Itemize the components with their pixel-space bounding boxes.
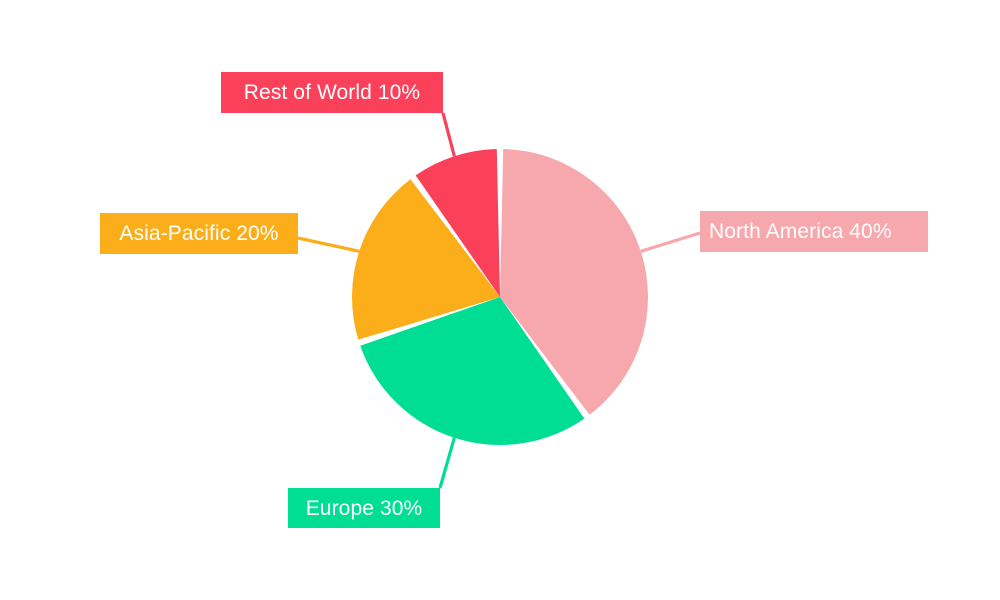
pie-slices [352,149,648,445]
leader-line-north-america [641,233,700,251]
leader-line-asia-pacific [298,238,359,251]
leader-line-europe [440,438,454,488]
pie-chart-figure: North America 40% Europe 30% Asia-Pacifi… [0,0,1000,600]
pie-chart-canvas [0,0,1000,600]
slice-label-europe[interactable]: Europe 30% [288,488,440,528]
slice-label-north-america[interactable]: North America 40% [700,211,928,252]
slice-label-rest-of-world[interactable]: Rest of World 10% [221,72,443,113]
leader-line-rest-of-world [443,113,454,156]
slice-label-asia-pacific[interactable]: Asia-Pacific 20% [100,213,298,254]
